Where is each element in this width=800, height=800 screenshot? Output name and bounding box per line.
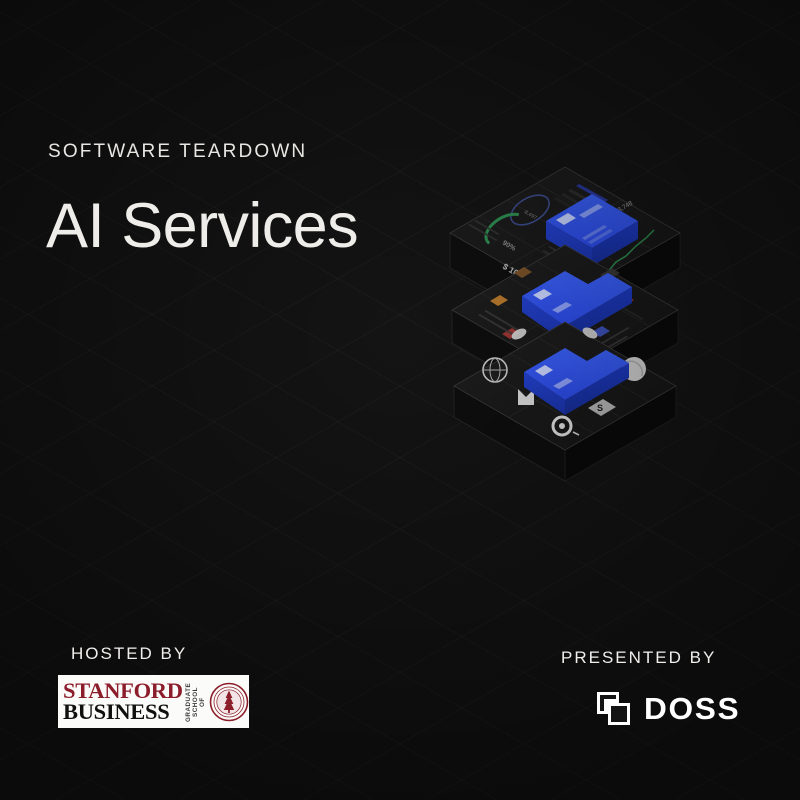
doss-mark-icon bbox=[597, 692, 631, 726]
isometric-software-stack-illustration: 8,497 90% $ 10,567 23,748 bbox=[440, 158, 690, 488]
svg-text:S: S bbox=[597, 403, 603, 413]
presented-by-label: PRESENTED BY bbox=[561, 648, 716, 668]
doss-wordmark: DOSS bbox=[644, 691, 740, 727]
doss-logo: DOSS bbox=[597, 690, 739, 728]
graduate-school-of-text: GRADUATE SCHOOL OF bbox=[185, 682, 206, 722]
hosted-by-label: HOSTED BY bbox=[71, 644, 187, 664]
business-word: BUSINESS bbox=[63, 702, 183, 723]
stanford-tree-seal-icon bbox=[209, 682, 249, 722]
page-title: AI Services bbox=[46, 190, 358, 262]
stanford-wordmark: STANFORD BUSINESS bbox=[63, 681, 183, 722]
slide-canvas: 8,497 90% $ 10,567 23,748 bbox=[0, 0, 800, 800]
doss-square-front bbox=[608, 703, 630, 725]
stanford-gsb-logo: STANFORD BUSINESS GRADUATE SCHOOL OF bbox=[58, 675, 249, 728]
eyebrow-label: SOFTWARE TEARDOWN bbox=[48, 141, 307, 163]
